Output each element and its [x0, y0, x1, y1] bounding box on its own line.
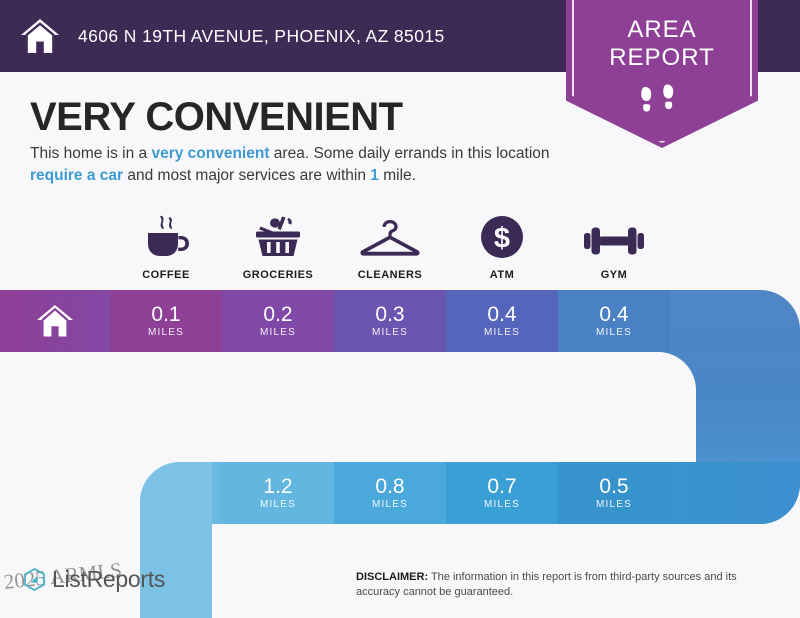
- distance-row-2: 1.2 MILES 0.8 MILES 0.7 MILES 0.5 MILES: [222, 462, 670, 524]
- amenity-coffee: COFFEE: [110, 214, 222, 281]
- distance-row-1: 0.1 MILES 0.2 MILES 0.3 MILES 0.4 MILES …: [110, 290, 670, 352]
- grocery-basket-icon: [252, 214, 304, 260]
- distance-unit: MILES: [372, 499, 408, 510]
- amenity-atm: $ ATM: [446, 214, 558, 281]
- distance-cell: 1.2 MILES: [222, 462, 334, 524]
- disclaimer: DISCLAIMER: The information in this repo…: [356, 570, 776, 600]
- distance-unit: MILES: [260, 327, 296, 338]
- distance-value: 0.1: [151, 304, 180, 326]
- distance-cell: 0.5 MILES: [558, 462, 670, 524]
- coffee-cup-icon: [140, 214, 192, 260]
- dumbbell-icon: [583, 214, 645, 260]
- page-description: This home is in a very convenient area. …: [30, 143, 570, 187]
- dollar-circle-icon: $: [479, 214, 525, 260]
- distance-cell: 0.3 MILES: [334, 290, 446, 352]
- listreports-logo: ListReports: [22, 566, 165, 593]
- badge-title: AREA REPORT: [566, 16, 758, 72]
- distance-value: 0.7: [487, 476, 516, 498]
- distance-unit: MILES: [596, 499, 632, 510]
- amenity-groceries: GROCERIES: [222, 214, 334, 281]
- amenity-label: GROCERIES: [243, 269, 314, 281]
- distance-cell: 0.4 MILES: [446, 290, 558, 352]
- distance-unit: MILES: [148, 327, 184, 338]
- ribbon-left-tail: [140, 462, 212, 618]
- amenity-cleaners: CLEANERS: [334, 214, 446, 281]
- clothes-hanger-icon: [359, 214, 421, 260]
- disclaimer-label: DISCLAIMER:: [356, 571, 428, 583]
- lede-text-3: and most major services are within: [123, 167, 370, 184]
- lede-text-1: This home is in a: [30, 145, 151, 162]
- distance-unit: MILES: [372, 327, 408, 338]
- listreports-wordmark: ListReports: [52, 566, 165, 593]
- distance-value: 0.4: [487, 304, 516, 326]
- amenity-label: COFFEE: [142, 269, 190, 281]
- distance-cell: 0.2 MILES: [222, 290, 334, 352]
- page-title: VERY CONVENIENT: [30, 95, 403, 140]
- distance-cell: 0.4 MILES: [558, 290, 670, 352]
- distance-value: 0.2: [263, 304, 292, 326]
- distance-cell: 0.7 MILES: [446, 462, 558, 524]
- distance-value: 0.8: [375, 476, 404, 498]
- lede-highlight-2: require a car: [30, 167, 123, 184]
- distance-value: 0.3: [375, 304, 404, 326]
- badge-line-1: AREA: [566, 16, 758, 44]
- distance-unit: MILES: [484, 499, 520, 510]
- lede-highlight-1: very convenient: [151, 145, 269, 162]
- amenity-label: ATM: [490, 269, 515, 281]
- distance-value: 1.2: [263, 476, 292, 498]
- amenity-label: CLEANERS: [358, 269, 423, 281]
- home-origin-cell: [0, 290, 110, 352]
- distance-cell: 0.8 MILES: [334, 462, 446, 524]
- distance-value: 0.4: [599, 304, 628, 326]
- amenity-label: GYM: [601, 269, 628, 281]
- amenity-icon-row-1: COFFEE GROCE: [110, 214, 670, 281]
- home-icon: [35, 302, 75, 340]
- distance-cell: 0.1 MILES: [110, 290, 222, 352]
- listreports-house-icon: [22, 567, 47, 592]
- amenity-gym: GYM: [558, 214, 670, 281]
- distance-unit: MILES: [484, 327, 520, 338]
- lede-highlight-3: 1: [370, 167, 379, 184]
- footprints-icon: [637, 84, 687, 123]
- distance-unit: MILES: [260, 499, 296, 510]
- area-report-page: 4606 N 19TH AVENUE, PHOENIX, AZ 85015 AR…: [0, 0, 800, 618]
- home-icon: [18, 14, 62, 58]
- lede-text-4: mile.: [379, 167, 416, 184]
- distance-value: 0.5: [599, 476, 628, 498]
- lede-text-2: area. Some daily errands in this locatio…: [270, 145, 550, 162]
- distance-unit: MILES: [596, 327, 632, 338]
- area-report-badge: AREA REPORT: [566, 0, 758, 148]
- svg-text:$: $: [494, 223, 510, 255]
- property-address: 4606 N 19TH AVENUE, PHOENIX, AZ 85015: [78, 26, 445, 47]
- badge-line-2: REPORT: [566, 44, 758, 72]
